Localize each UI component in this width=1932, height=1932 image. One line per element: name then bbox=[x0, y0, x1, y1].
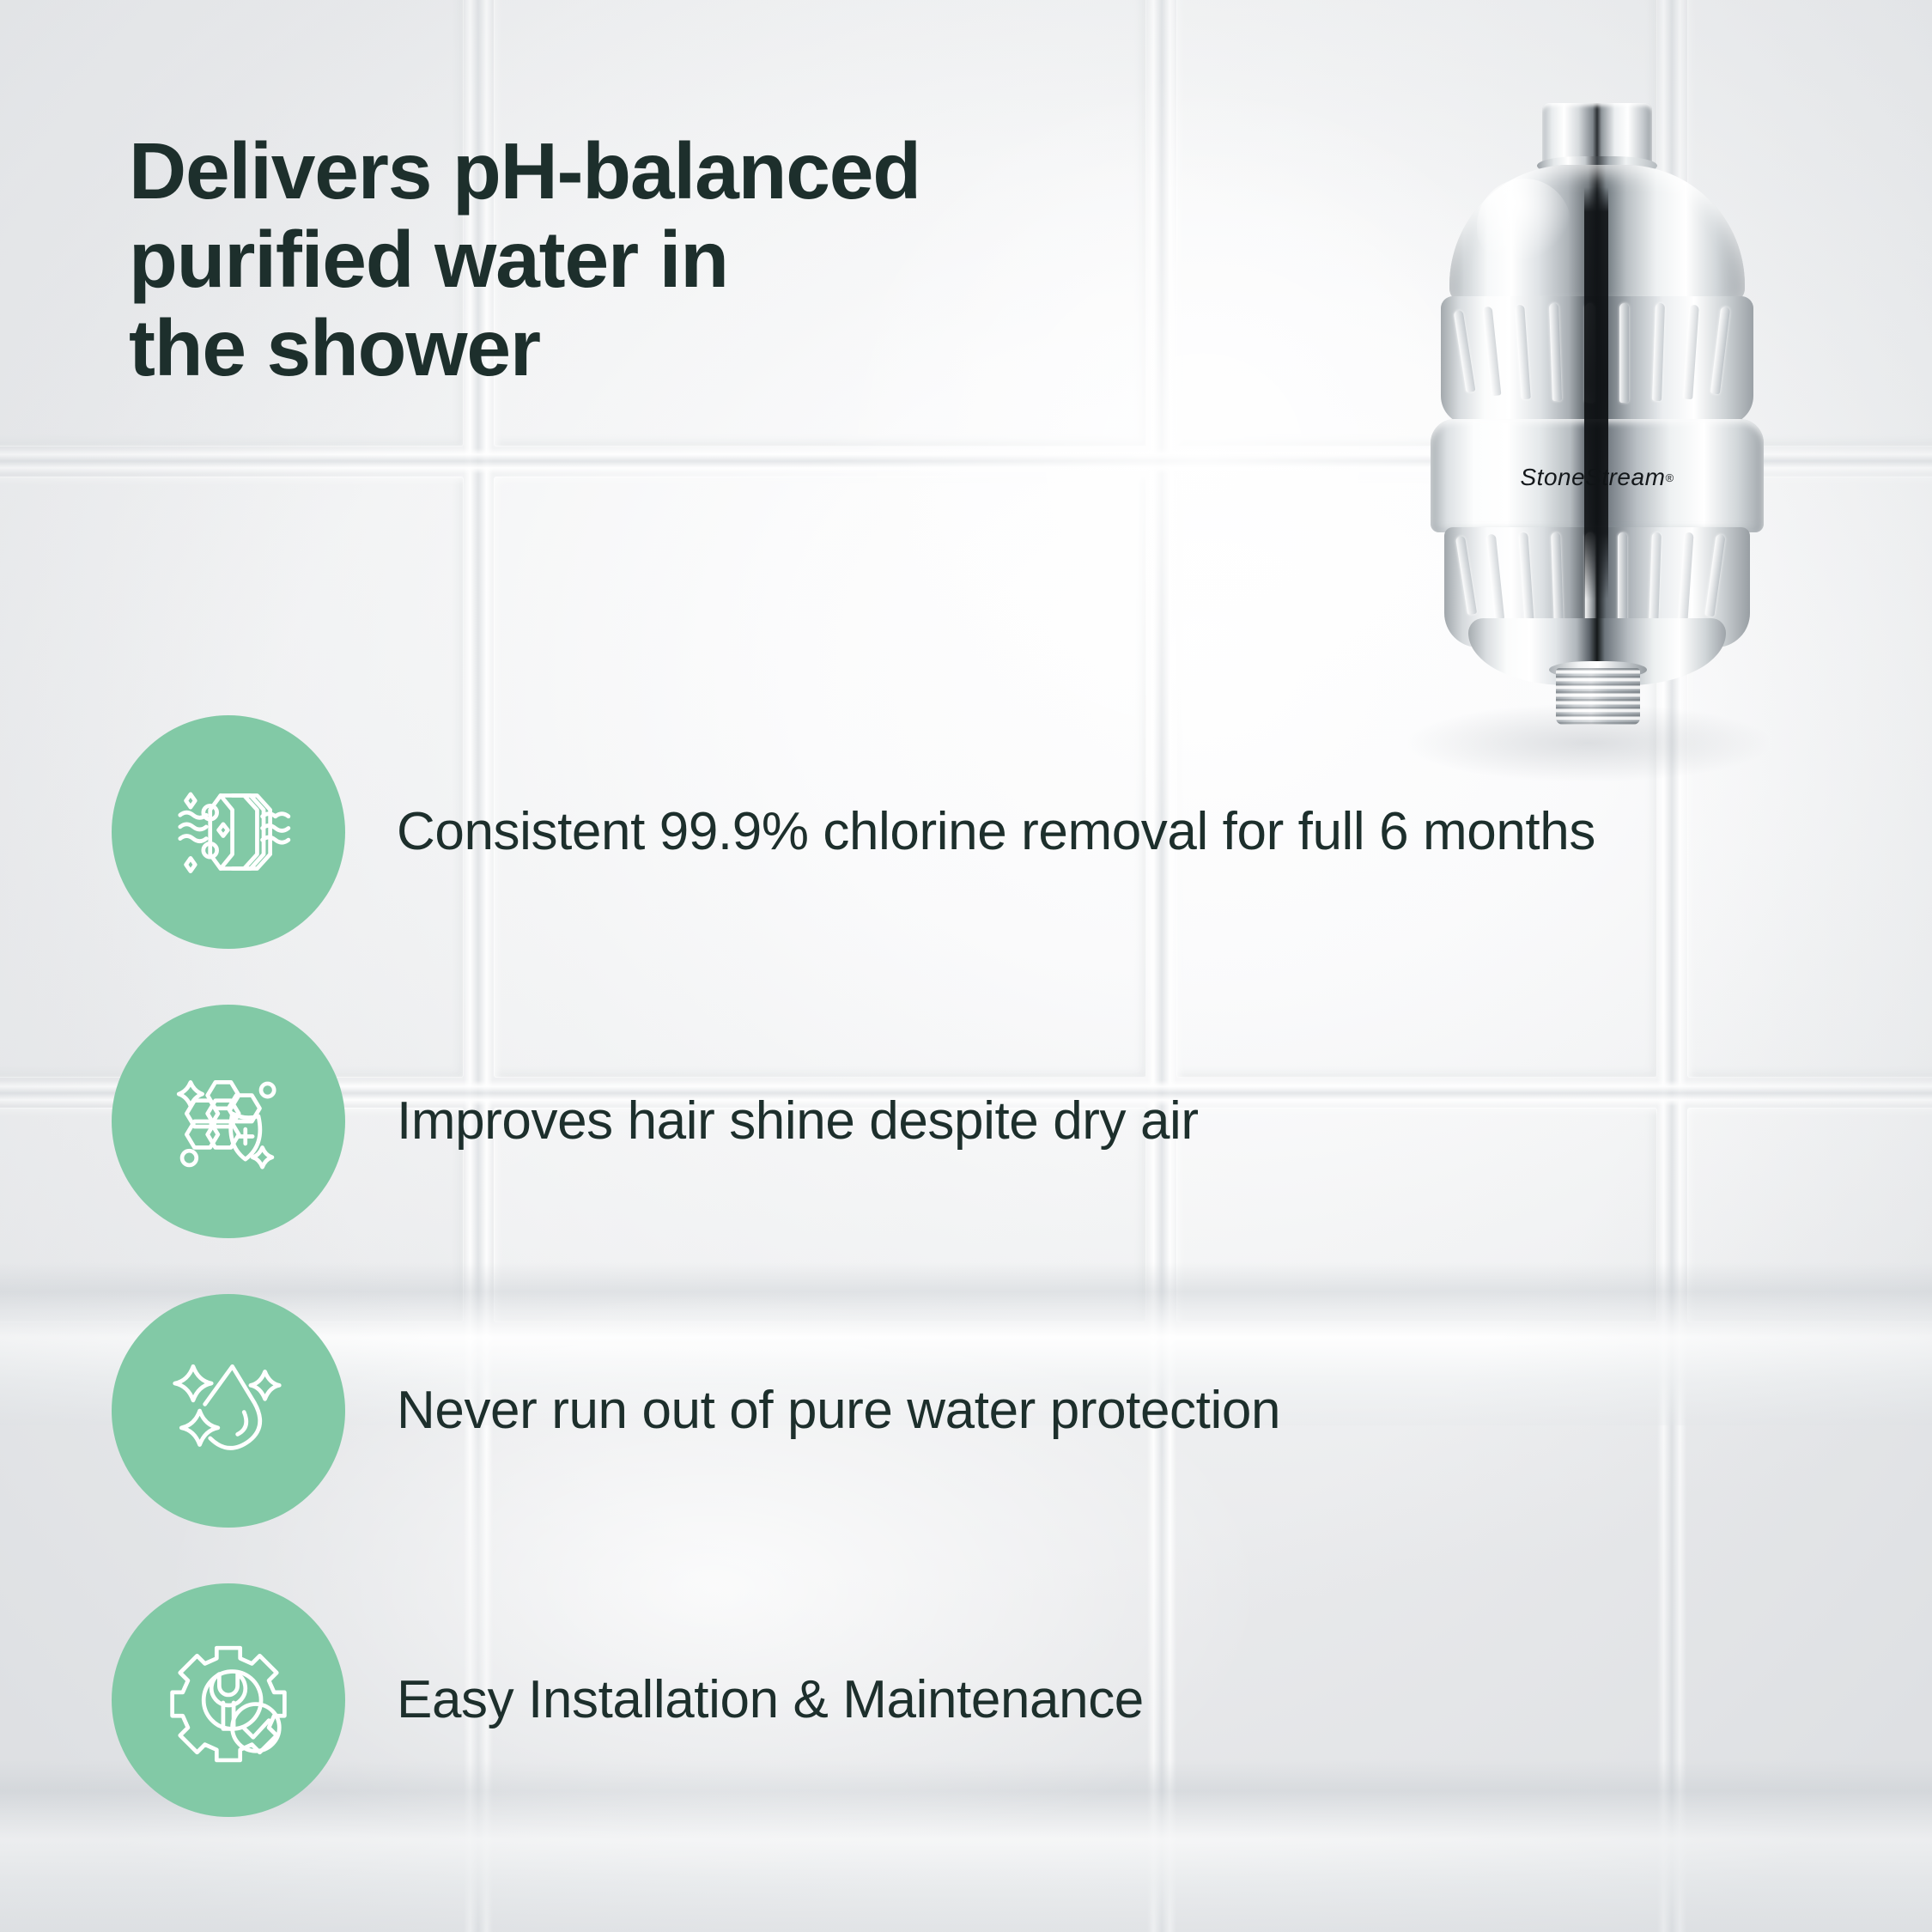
feature-item: Never run out of pure water protection bbox=[112, 1294, 1795, 1528]
headline-line-1: Delivers pH-balanced bbox=[129, 127, 1245, 216]
gear-wrench-check-icon bbox=[163, 1635, 294, 1765]
chrome-reflection-stripe bbox=[1584, 187, 1608, 599]
filter-layers-icon bbox=[163, 767, 294, 897]
molecule-shield-icon bbox=[163, 1056, 294, 1187]
headline-line-2: purified water in bbox=[129, 216, 1245, 304]
feature-label: Consistent 99.9% chlorine removal for fu… bbox=[397, 800, 1595, 863]
headline-line-3: the shower bbox=[129, 304, 1245, 392]
feature-list: Consistent 99.9% chlorine removal for fu… bbox=[112, 715, 1795, 1873]
feature-item: Easy Installation & Maintenance bbox=[112, 1583, 1795, 1817]
feature-item: Improves hair shine despite dry air bbox=[112, 1005, 1795, 1238]
feature-icon-badge bbox=[112, 715, 345, 949]
feature-icon-badge bbox=[112, 1583, 345, 1817]
feature-label: Easy Installation & Maintenance bbox=[397, 1668, 1144, 1731]
sparkling-water-drop-icon bbox=[163, 1346, 294, 1476]
product-image-shower-filter: StoneStream® bbox=[1374, 103, 1820, 790]
feature-label: Never run out of pure water protection bbox=[397, 1379, 1280, 1442]
trademark-symbol: ® bbox=[1665, 471, 1674, 484]
page-title: Delivers pH-balanced purified water in t… bbox=[129, 127, 1245, 393]
feature-icon-badge bbox=[112, 1294, 345, 1528]
feature-label: Improves hair shine despite dry air bbox=[397, 1090, 1199, 1152]
feature-item: Consistent 99.9% chlorine removal for fu… bbox=[112, 715, 1795, 949]
feature-icon-badge bbox=[112, 1005, 345, 1238]
